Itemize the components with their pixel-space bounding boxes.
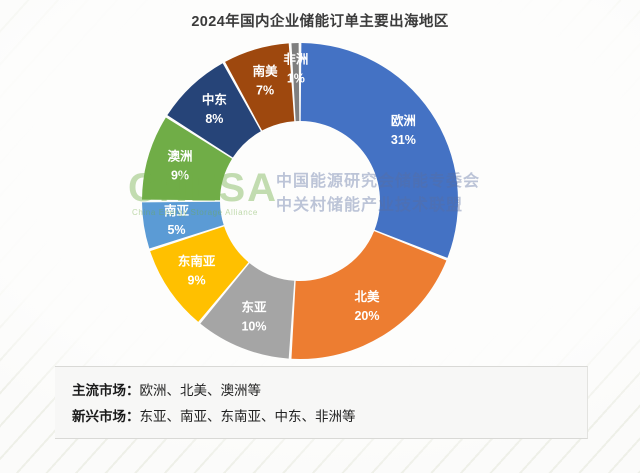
slice-label-name: 南亚 bbox=[164, 203, 190, 218]
slice-label-value: 9% bbox=[171, 168, 189, 182]
slice-label-name: 欧洲 bbox=[391, 113, 416, 128]
slice-label-name: 澳洲 bbox=[167, 148, 192, 163]
slice-label-value: 20% bbox=[354, 309, 379, 323]
slice-label-value: 1% bbox=[287, 71, 305, 85]
slice-label-value: 31% bbox=[391, 133, 416, 147]
slice-label-name: 非洲 bbox=[283, 51, 308, 66]
donut-slice[interactable] bbox=[301, 43, 458, 258]
legend-value-emerging: 东亚、南亚、东南亚、中东、非洲等 bbox=[140, 409, 356, 424]
legend-value-mainstream: 欧洲、北美、澳洲等 bbox=[140, 383, 262, 398]
slice-label-value: 8% bbox=[205, 112, 223, 126]
slice-label-name: 南美 bbox=[253, 63, 279, 78]
slice-label-name: 东亚 bbox=[241, 299, 267, 314]
slice-label-value: 10% bbox=[241, 319, 266, 333]
legend-row-mainstream: 主流市场：欧洲、北美、澳洲等 bbox=[72, 378, 587, 404]
slice-label-value: 9% bbox=[188, 274, 206, 288]
page-title: 2024年国内企业储能订单主要出海地区 bbox=[0, 10, 640, 31]
slice-label-value: 7% bbox=[256, 83, 274, 97]
slice-label-name: 北美 bbox=[354, 289, 380, 304]
donut-slices-group bbox=[142, 43, 458, 359]
slice-label-name: 中东 bbox=[202, 92, 228, 107]
legend-box: 主流市场：欧洲、北美、澳洲等 新兴市场：东亚、南亚、东南亚、中东、非洲等 bbox=[55, 366, 588, 439]
legend-row-emerging: 新兴市场：东亚、南亚、东南亚、中东、非洲等 bbox=[72, 404, 587, 430]
donut-chart-svg: 欧洲31%北美20%东亚10%东南亚9%南亚5%澳洲9%中东8%南美7%非洲1% bbox=[135, 36, 465, 366]
slice-label-value: 5% bbox=[167, 223, 185, 237]
donut-chart: 欧洲31%北美20%东亚10%东南亚9%南亚5%澳洲9%中东8%南美7%非洲1% bbox=[135, 36, 465, 366]
legend-label-emerging: 新兴市场： bbox=[72, 409, 140, 424]
legend-label-mainstream: 主流市场： bbox=[72, 383, 140, 398]
slice-label-name: 东南亚 bbox=[178, 254, 216, 269]
chart-page: 2024年国内企业储能订单主要出海地区 欧洲31%北美20%东亚10%东南亚9%… bbox=[0, 0, 640, 473]
